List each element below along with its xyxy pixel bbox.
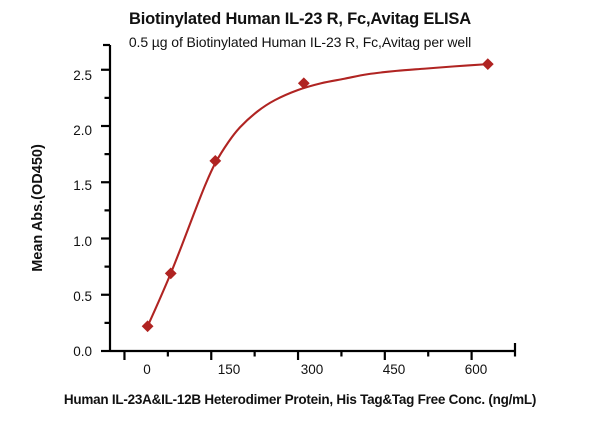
elisa-chart-figure: Biotinylated Human IL-23 R, Fc,Avitag EL… bbox=[0, 0, 600, 421]
axis-lines bbox=[103, 45, 515, 351]
fit-curve-path bbox=[148, 64, 488, 326]
data-point-0-1 bbox=[166, 268, 176, 278]
plot-area bbox=[0, 0, 600, 421]
data-markers bbox=[142, 59, 493, 332]
data-point-0-0 bbox=[142, 321, 152, 331]
fit-curve bbox=[148, 64, 488, 326]
data-point-0-4 bbox=[483, 59, 493, 69]
axis-ticks bbox=[101, 70, 515, 360]
